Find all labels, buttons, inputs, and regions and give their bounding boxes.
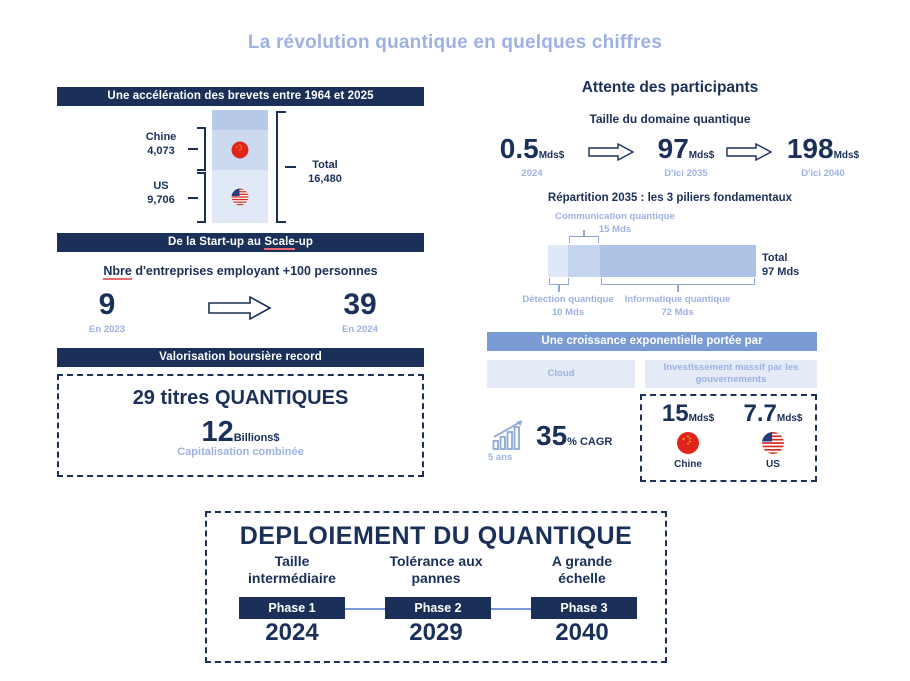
deployment-phase-3-caption-l2: échelle xyxy=(512,570,652,587)
valorisation-headline: 29 titres QUANTIQUES xyxy=(57,388,424,409)
deployment-phase-1-caption-l2: intermédiaire xyxy=(222,570,362,587)
repartition-informatique-stem xyxy=(677,285,679,292)
deployment-phase-2-caption: Tolérance aux pannes xyxy=(366,553,506,587)
startup-subtitle-rest: d'entreprises employant +100 personnes xyxy=(132,264,378,278)
croissance-header: Une croissance exponentielle portée par xyxy=(487,332,817,351)
deployment-connector-2 xyxy=(491,608,532,610)
attente-step-3: 198Mds$ xyxy=(768,135,878,163)
repartition-informatique-label: Informatique quantique xyxy=(600,293,755,306)
croissance-gov-box: Investissement massif par les gouverneme… xyxy=(645,360,817,388)
attente-step-2-caption: D'ici 2035 xyxy=(636,167,736,180)
startup-to-caption: En 2024 xyxy=(320,323,400,336)
deployment-connector-1 xyxy=(345,608,386,610)
valorisation-header: Valorisation boursière record xyxy=(57,348,424,367)
startup-subtitle-spell: Nbre xyxy=(103,264,131,280)
right-arrow-icon xyxy=(588,143,634,166)
attente-step-1-unit: Mds$ xyxy=(539,150,565,161)
patents-us-tick xyxy=(188,197,198,199)
repartition-segment-informatique xyxy=(600,245,756,277)
repartition-top-stem xyxy=(583,230,585,237)
startup-from-value: 9 xyxy=(72,290,142,320)
gov-item-1-value-row: 15Mds$ xyxy=(648,402,728,426)
attente-step-3-value: 198 xyxy=(787,133,834,164)
patents-chine-bracket xyxy=(197,127,206,171)
patents-us-bracket xyxy=(197,172,206,223)
cagr-value-row: 35% CAGR xyxy=(536,422,612,450)
attente-subtitle: Taille du domaine quantique xyxy=(470,112,870,126)
repartition-segment-detection xyxy=(548,245,568,277)
patents-segment-us xyxy=(212,170,268,223)
deployment-phase-1-caption: Taille intermédiaire xyxy=(222,553,362,587)
cagr-value: 35 xyxy=(536,420,567,451)
deployment-phase-1-badge[interactable]: Phase 1 xyxy=(239,597,345,619)
patents-stacked-bar xyxy=(212,110,268,223)
attente-step-1-caption: 2024 xyxy=(482,167,582,180)
croissance-cloud-box: Cloud xyxy=(487,360,635,388)
deployment-phase-3-caption: A grande échelle xyxy=(512,553,652,587)
repartition-total-value: 97 Mds xyxy=(762,265,832,279)
gov-item-1-value: 15 xyxy=(662,400,689,427)
attente-step-1: 0.5Mds$ xyxy=(482,135,582,163)
patents-us-value: 9,706 xyxy=(130,193,192,207)
gov-item-1-flag-wrap xyxy=(648,432,728,459)
patents-chine-value: 4,073 xyxy=(130,144,192,158)
us-flag-icon xyxy=(232,188,249,205)
right-arrow-icon xyxy=(208,296,272,325)
patents-segment-other xyxy=(212,110,268,130)
startup-header-spell: Scale xyxy=(264,236,295,250)
cagr-years: 5 ans xyxy=(488,451,534,464)
valorisation-count: 29 xyxy=(133,387,155,409)
us-flag-icon xyxy=(762,432,784,459)
repartition-segment-communication xyxy=(568,245,600,277)
startup-header: De la Start-up au Scale-up xyxy=(57,233,424,252)
deployment-phase-2-caption-l2: pannes xyxy=(366,570,506,587)
repartition-top-bracket xyxy=(569,236,599,243)
deployment-title: DEPLOIEMENT DU QUANTIQUE xyxy=(205,524,667,549)
startup-from-caption: En 2023 xyxy=(72,323,142,336)
valorisation-amount: 12 xyxy=(201,416,233,448)
repartition-detection-bracket xyxy=(549,278,569,285)
page-title: La révolution quantique en quelques chif… xyxy=(0,32,910,54)
gov-item-2-unit: Mds$ xyxy=(777,413,803,424)
deployment-phase-2-caption-l1: Tolérance aux xyxy=(366,553,506,570)
deployment-phase-3-caption-l1: A grande xyxy=(512,553,652,570)
right-arrow-icon xyxy=(726,143,772,166)
patents-us-label: US xyxy=(130,179,192,193)
deployment-phase-2-year: 2029 xyxy=(366,621,506,645)
patents-segment-chine xyxy=(212,130,268,170)
patents-chine-tick xyxy=(188,148,198,150)
valorisation-amount-unit: Billions$ xyxy=(234,432,280,444)
repartition-title: Répartition 2035 : les 3 piliers fondame… xyxy=(470,191,870,205)
valorisation-caption: Capitalisation combinée xyxy=(57,446,424,459)
gov-item-2-value: 7.7 xyxy=(744,400,777,427)
attente-step-2: 97Mds$ xyxy=(636,135,736,163)
startup-to-value: 39 xyxy=(320,290,400,320)
cn-flag-icon xyxy=(677,432,699,459)
repartition-detection-stem xyxy=(558,285,560,292)
gov-item-2-value-row: 7.7Mds$ xyxy=(733,402,813,426)
attente-step-2-value: 97 xyxy=(658,133,689,164)
patents-header: Une accélération des brevets entre 1964 … xyxy=(57,87,424,106)
valorisation-amount-row: 12Billions$ xyxy=(57,418,424,447)
patents-total-value: 16,480 xyxy=(290,172,360,186)
repartition-top-label: Communication quantique xyxy=(500,210,730,223)
attente-step-3-caption: D'ici 2040 xyxy=(768,167,878,180)
attente-header: Attente des participants xyxy=(470,79,870,97)
gov-item-1-country: Chine xyxy=(648,458,728,472)
valorisation-headline-text: titres QUANTIQUES xyxy=(155,387,348,409)
deployment-phase-2-badge[interactable]: Phase 2 xyxy=(385,597,491,619)
attente-step-3-unit: Mds$ xyxy=(834,150,860,161)
deployment-phase-1-year: 2024 xyxy=(222,621,362,645)
repartition-total-label: Total xyxy=(762,251,832,265)
gov-item-2-country: US xyxy=(733,458,813,472)
patents-chine-label: Chine xyxy=(130,130,192,144)
gov-item-2-flag-wrap xyxy=(733,432,813,459)
cn-flag-icon xyxy=(232,142,249,159)
repartition-informatique-bracket xyxy=(601,278,755,285)
repartition-top-value: 15 Mds xyxy=(500,223,730,236)
attente-step-2-unit: Mds$ xyxy=(689,150,715,161)
cagr-unit: % CAGR xyxy=(567,436,612,448)
deployment-phase-3-badge[interactable]: Phase 3 xyxy=(531,597,637,619)
attente-step-1-value: 0.5 xyxy=(500,133,539,164)
deployment-phase-3-year: 2040 xyxy=(512,621,652,645)
gov-item-1-unit: Mds$ xyxy=(689,413,715,424)
repartition-stacked-bar xyxy=(548,245,756,277)
repartition-informatique-value: 72 Mds xyxy=(600,306,755,319)
startup-subtitle: Nbre d'entreprises employant +100 person… xyxy=(57,264,424,278)
patents-total-label: Total xyxy=(290,158,360,172)
deployment-phase-1-caption-l1: Taille xyxy=(222,553,362,570)
